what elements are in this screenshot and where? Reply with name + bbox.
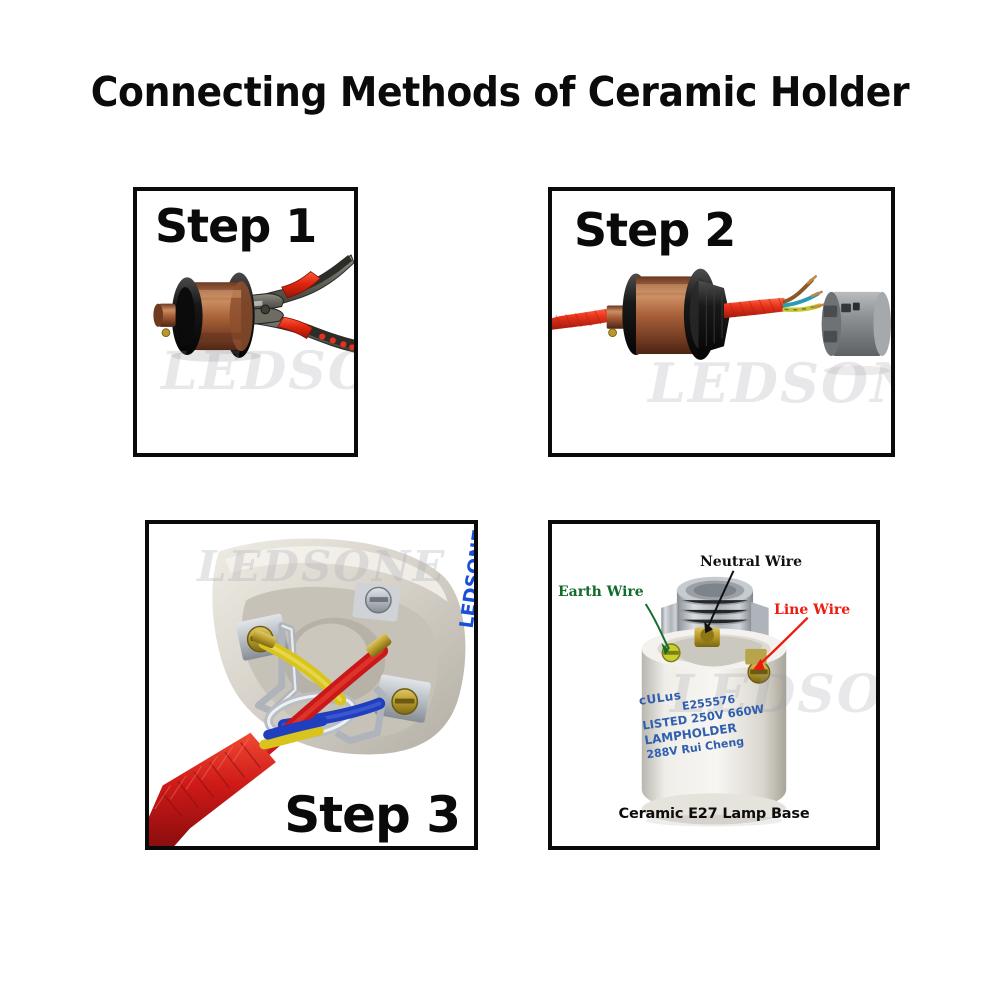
step-2-label: Step 2	[574, 203, 735, 257]
lamp-base-caption: Ceramic E27 Lamp Base	[552, 806, 876, 822]
panel-step-1: LEDSONE Step 1	[133, 187, 358, 457]
annotation-neutral-wire: Neutral Wire	[700, 554, 802, 570]
lamp-base-illustration	[552, 524, 876, 846]
panel-step-3: LEDSONE LEDSONE Step 3	[145, 520, 478, 850]
page-title: Connecting Methods of Ceramic Holder	[40, 68, 960, 116]
annotation-line-wire: Line Wire	[774, 602, 850, 618]
annotation-earth-wire: Earth Wire	[558, 584, 644, 600]
step-3-label: Step 3	[284, 786, 460, 844]
panel-ceramic-e27-lamp-base: cULus E255576 LISTED 250V 660W LAMPHOLDE…	[548, 520, 880, 850]
panel-step-2: LEDSONE Step 2	[548, 187, 895, 457]
step-1-label: Step 1	[155, 199, 316, 253]
poster-root: Connecting Methods of Ceramic Holder	[0, 0, 1000, 1000]
